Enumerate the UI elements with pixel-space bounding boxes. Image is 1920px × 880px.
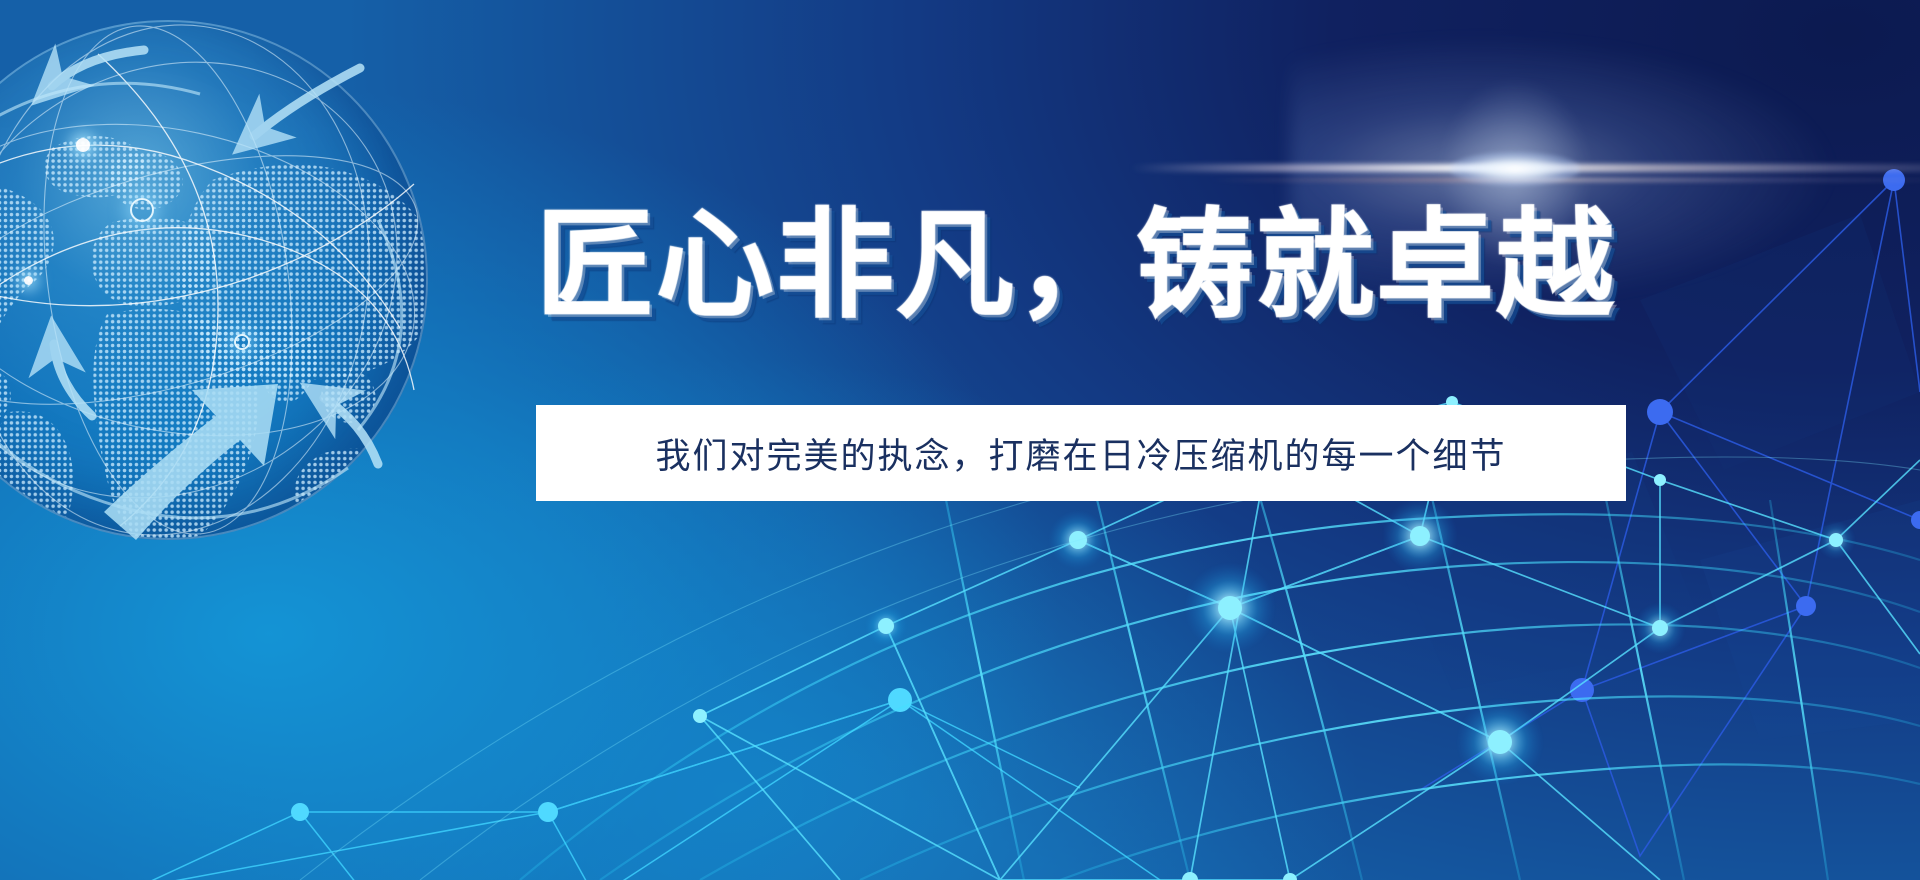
globe-node-ring-b	[234, 334, 250, 350]
globe-dotted-world-map	[0, 20, 428, 540]
headline: 匠心非凡，铸就卓越	[536, 175, 1630, 371]
globe-rim	[0, 20, 428, 540]
globe-graphic	[0, 20, 428, 540]
subtitle-text: 我们对完美的执念，打磨在日冷压缩机的每一个细节	[655, 428, 1506, 479]
globe-sphere	[0, 20, 428, 540]
banner-content: 匠心非凡，铸就卓越 我们对完美的执念，打磨在日冷压缩机的每一个细节	[536, 175, 1630, 371]
globe-node-ring-a	[130, 198, 154, 222]
hero-banner: 匠心非凡，铸就卓越 我们对完美的执念，打磨在日冷压缩机的每一个细节	[0, 0, 1920, 880]
globe-node-hub-primary	[76, 138, 90, 152]
globe-meridian-lines	[0, 20, 428, 540]
flare-streak-primary	[1130, 164, 1920, 172]
globe-node-hub-secondary	[24, 276, 33, 285]
subtitle-bar: 我们对完美的执念，打磨在日冷压缩机的每一个细节	[536, 405, 1626, 501]
headline-text: 匠心非凡，铸就卓越	[536, 175, 1630, 355]
globe-orbit-arrows	[0, 20, 428, 540]
